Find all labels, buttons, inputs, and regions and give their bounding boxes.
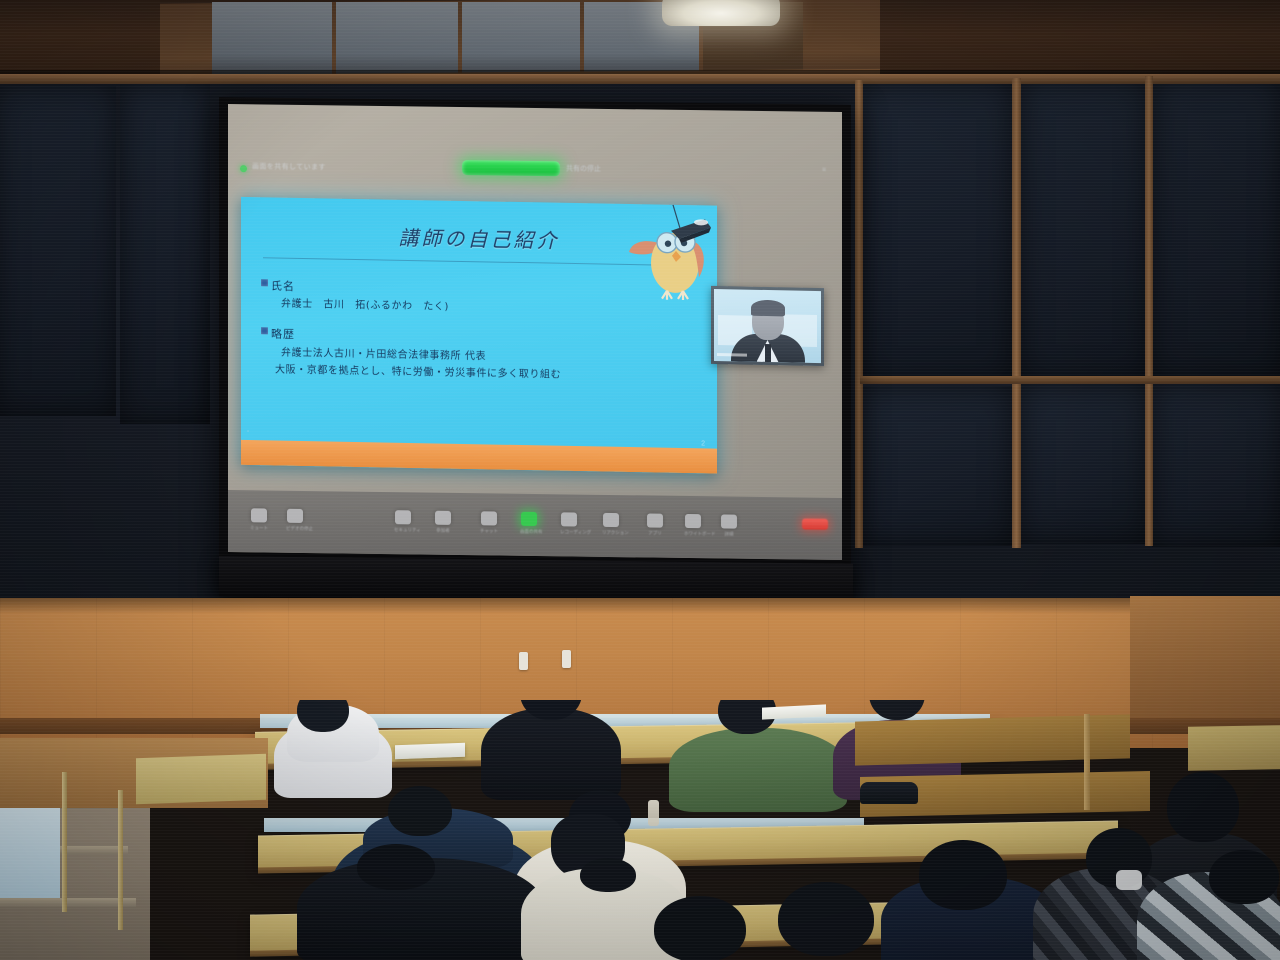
acoustic-panel — [120, 84, 210, 424]
p-front-head-only — [654, 896, 746, 960]
participants-icon[interactable]: 参加者 — [434, 511, 452, 541]
p-green-jacket-body — [669, 728, 847, 812]
recessed-ceiling-light-icon — [662, 0, 780, 26]
acoustic-panel — [862, 82, 1012, 382]
presentation-slide: 講師の自己紹介 — [241, 197, 717, 474]
list-item — [668, 700, 848, 812]
wall-outlet — [562, 650, 571, 668]
p-head-center — [778, 882, 874, 956]
owl-with-graduation-cap-icon — [627, 200, 713, 306]
record-icon[interactable]: レコーディング — [560, 512, 578, 542]
wood-trim — [0, 74, 1280, 84]
speaker-video-tile[interactable] — [711, 286, 824, 366]
meeting-app-top-bar: 画面を共有しています 共有の停止 ≡ — [228, 104, 842, 200]
list-item — [640, 896, 760, 960]
ceiling-panel — [212, 2, 332, 76]
slide-section-heading: 氏名 — [271, 277, 295, 293]
ceiling-panel — [336, 2, 458, 76]
meeting-toolbar: ミュート ビデオの停止 セキュリティ 参加者 チャット 画面の共有 レコーディン… — [228, 490, 842, 560]
list-item — [268, 700, 398, 798]
share-screen-icon[interactable]: 画面の共有 — [520, 512, 538, 542]
desk-row — [1188, 725, 1280, 771]
papers-on-desk — [395, 743, 465, 759]
slide-bullet-heading: 略歴 — [261, 325, 295, 342]
more-icon[interactable]: 詳細 — [720, 514, 738, 544]
wood-trim — [855, 80, 863, 548]
speaker-hair — [751, 300, 785, 317]
wood-trim — [1012, 78, 1021, 548]
slide-body-line: 大阪・京都を拠点とし、特に労働・労災事件に多く取り組む — [275, 361, 561, 381]
list-item — [1136, 850, 1280, 960]
p-navy-coat-head — [388, 786, 452, 836]
slide-bullet-heading: 氏名 — [261, 277, 295, 294]
security-icon[interactable]: セキュリティ — [394, 510, 412, 540]
p-plaid-right-head — [1209, 850, 1279, 904]
bag-on-bench — [860, 782, 918, 804]
wall-outlet — [519, 652, 528, 670]
slide-footer-band — [241, 440, 717, 474]
stop-share-label[interactable]: 共有の停止 — [566, 163, 601, 173]
p-front-cream-head — [580, 858, 636, 892]
video-camera-icon[interactable]: ビデオの停止 — [286, 509, 304, 539]
p-front-dark-head — [357, 844, 435, 890]
speaker-necktie — [765, 344, 771, 362]
slide-section-heading: 略歴 — [271, 325, 295, 341]
p-purple-sweater-head — [869, 700, 925, 720]
acoustic-panel — [0, 86, 116, 416]
menu-icon[interactable]: ≡ — [822, 167, 826, 174]
wood-trim — [1145, 76, 1153, 546]
end-meeting-button[interactable] — [802, 518, 828, 529]
microphone-icon[interactable]: ミュート — [250, 508, 268, 538]
slide-body-line: 弁護士法人古川・片田総合法律事務所 代表 — [281, 344, 486, 363]
bullet-square-icon — [261, 279, 268, 286]
wood-trim — [860, 376, 1280, 384]
aisle-step — [0, 898, 136, 907]
desk-row — [136, 754, 266, 805]
acoustic-panel — [1020, 80, 1148, 380]
reactions-icon[interactable]: リアクション — [602, 513, 620, 543]
acoustic-panel — [1152, 78, 1280, 378]
whiteboard-icon[interactable]: ホワイトボード — [684, 514, 702, 544]
list-item — [766, 882, 886, 960]
acoustic-panel — [1020, 384, 1148, 544]
screen-share-indicator-pill[interactable] — [462, 160, 560, 176]
share-status-label: 画面を共有しています — [252, 161, 326, 172]
bullet-square-icon — [261, 327, 268, 334]
chat-icon[interactable]: チャット — [480, 511, 498, 541]
acoustic-panel — [1152, 382, 1280, 547]
list-item — [296, 846, 546, 960]
slide-corner-mark: • — [247, 429, 249, 435]
recording-dot-icon — [240, 165, 247, 172]
p-navy-puffer-head — [919, 840, 1007, 910]
slide-body-line: 弁護士 古川 拓(ふるかわ たく) — [281, 295, 449, 313]
bench-rail — [62, 772, 67, 912]
lecture-hall-photo: 画面を共有しています 共有の停止 ≡ 講師の自己紹介 — [0, 0, 1280, 960]
speaker-video-feed — [714, 289, 821, 363]
slide-page-number: 2 — [701, 440, 705, 447]
bench-rail — [118, 790, 123, 930]
video-name-bar — [717, 353, 747, 357]
projection-screen-surface: 画面を共有しています 共有の停止 ≡ 講師の自己紹介 — [228, 104, 842, 560]
bench-leg — [1084, 714, 1090, 810]
desk-surface — [0, 808, 60, 898]
ceiling-panel — [462, 2, 580, 76]
wainscot-shadow — [0, 598, 1280, 614]
projection-screen-bottom-bar — [219, 556, 853, 604]
apps-icon[interactable]: アプリ — [646, 513, 664, 543]
acoustic-panel — [862, 386, 1012, 546]
